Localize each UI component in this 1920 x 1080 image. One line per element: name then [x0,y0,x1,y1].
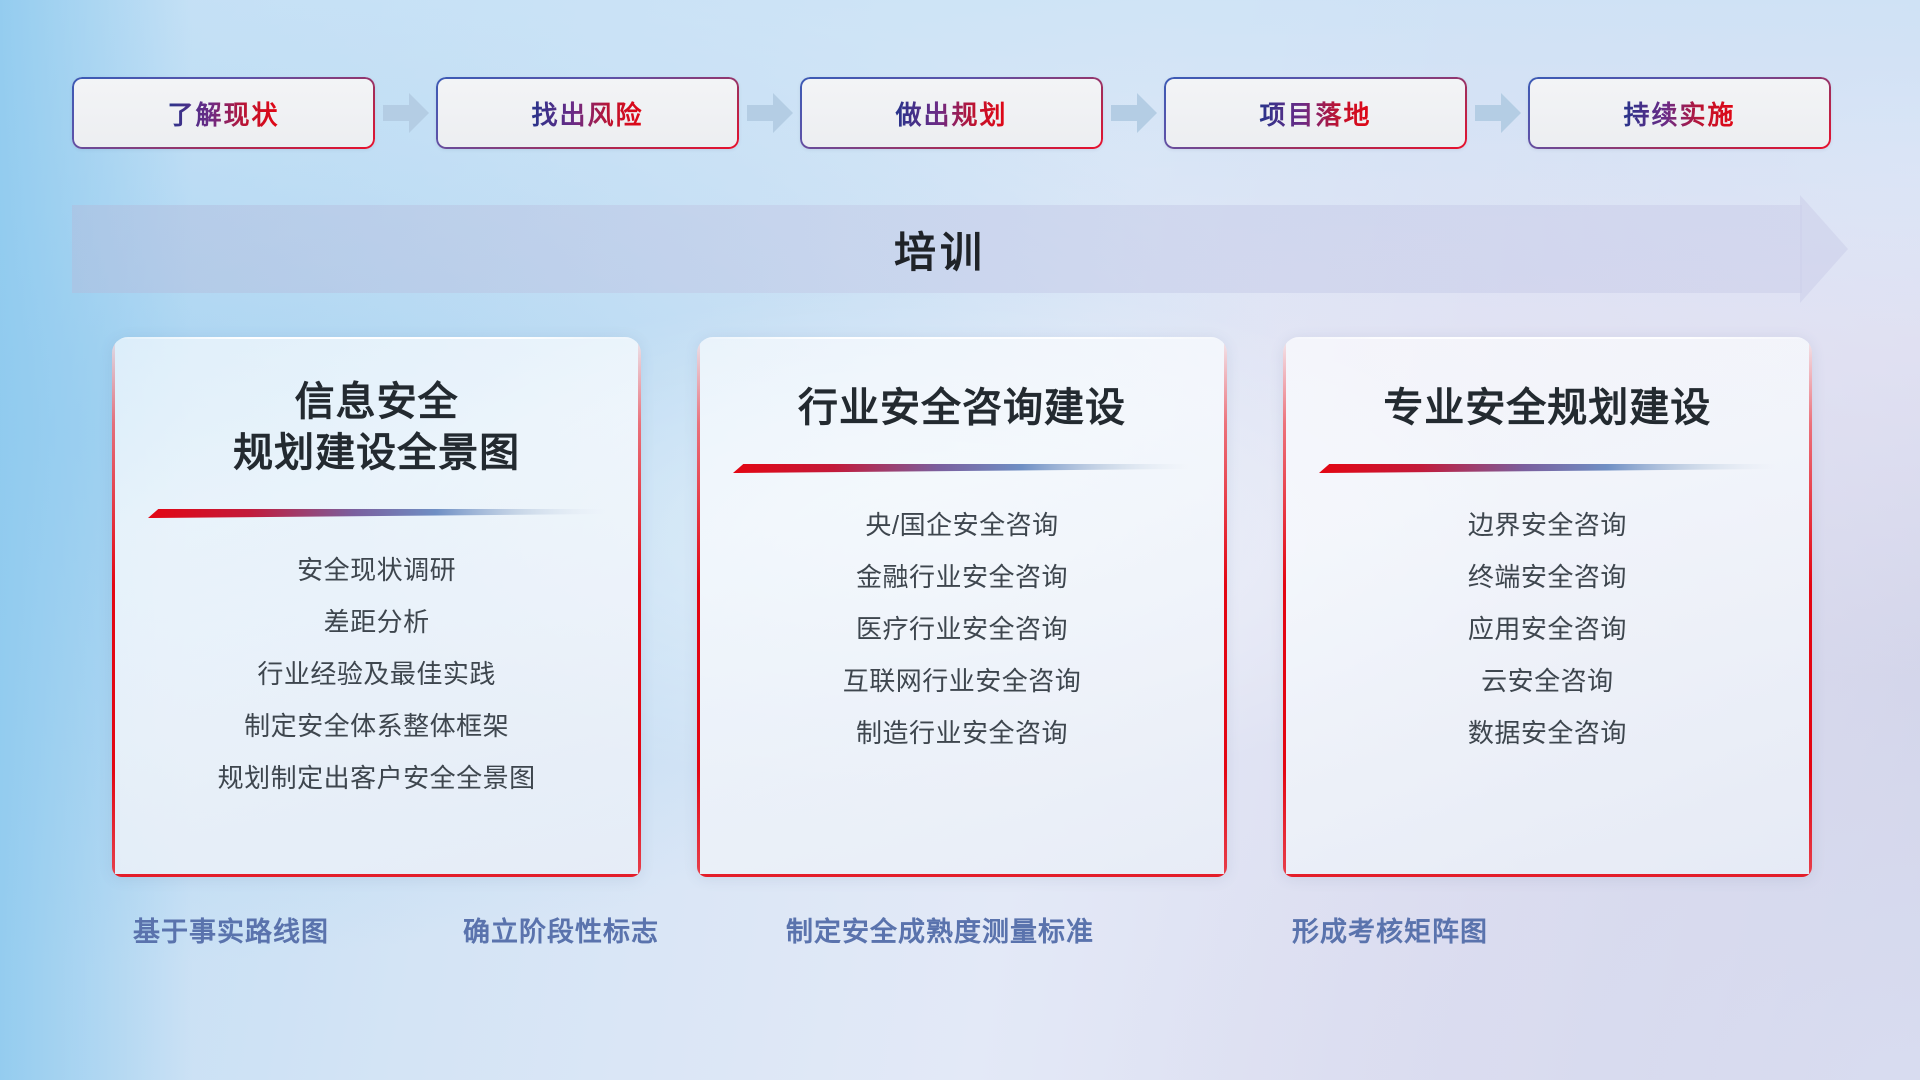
card-list-item[interactable]: 云安全咨询 [1283,655,1812,707]
card-list-item[interactable]: 终端安全咨询 [1283,551,1812,603]
card-accent-b [1283,874,1812,877]
card-list-item[interactable]: 规划制定出客户安全全景图 [112,752,641,804]
card-divider [148,507,605,520]
footer-label-2: 制定安全成熟度测量标准 [786,910,1094,949]
card-list-item[interactable]: 央/国企安全咨询 [697,499,1226,551]
process-step-1[interactable]: 找出风险 [436,77,739,149]
training-banner-title: 培训 [72,205,1848,293]
service-card-0[interactable]: 信息安全 规划建设全景图安全现状调研差距分析行业经验及最佳实践制定安全体系整体框… [112,337,641,877]
right-arrow-icon [739,77,800,149]
card-list-item[interactable]: 安全现状调研 [112,544,641,596]
process-step-label: 找出风险 [531,95,643,132]
card-accent-b [112,874,641,877]
card-list-item[interactable]: 金融行业安全咨询 [697,551,1226,603]
card-list-item[interactable]: 互联网行业安全咨询 [697,655,1226,707]
card-list-item[interactable]: 行业经验及最佳实践 [112,648,641,700]
card-title: 信息安全 规划建设全景图 [112,337,641,479]
process-step-4[interactable]: 持续实施 [1528,77,1831,149]
card-item-list: 安全现状调研差距分析行业经验及最佳实践制定安全体系整体框架规划制定出客户安全全景… [112,544,641,804]
footer-label-1: 确立阶段性标志 [463,910,659,949]
card-row: 信息安全 规划建设全景图安全现状调研差距分析行业经验及最佳实践制定安全体系整体框… [112,337,1812,877]
service-card-2[interactable]: 专业安全规划建设边界安全咨询终端安全咨询应用安全咨询云安全咨询数据安全咨询 [1283,337,1812,877]
process-step-label: 持续实施 [1623,95,1735,132]
right-arrow-icon [1467,77,1528,149]
card-divider [1319,462,1776,475]
card-list-item[interactable]: 应用安全咨询 [1283,603,1812,655]
footer-label-row: 基于事实路线图确立阶段性标志制定安全成熟度测量标准形成考核矩阵图 [0,910,1920,966]
card-list-item[interactable]: 差距分析 [112,596,641,648]
card-item-list: 央/国企安全咨询金融行业安全咨询医疗行业安全咨询互联网行业安全咨询制造行业安全咨… [697,499,1226,759]
card-list-item[interactable]: 医疗行业安全咨询 [697,603,1226,655]
right-arrow-icon [375,77,436,149]
process-step-label: 做出规划 [895,95,1007,132]
card-title: 专业安全规划建设 [1283,337,1812,434]
card-list-item[interactable]: 制造行业安全咨询 [697,707,1226,759]
process-step-label: 项目落地 [1259,95,1371,132]
process-step-3[interactable]: 项目落地 [1164,77,1467,149]
card-item-list: 边界安全咨询终端安全咨询应用安全咨询云安全咨询数据安全咨询 [1283,499,1812,759]
card-list-item[interactable]: 边界安全咨询 [1283,499,1812,551]
service-card-1[interactable]: 行业安全咨询建设央/国企安全咨询金融行业安全咨询医疗行业安全咨询互联网行业安全咨… [697,337,1226,877]
process-step-label: 了解现状 [167,95,279,132]
card-list-item[interactable]: 数据安全咨询 [1283,707,1812,759]
process-step-row: 了解现状找出风险做出规划项目落地持续实施 [72,77,1848,149]
right-arrow-icon [1103,77,1164,149]
footer-label-3: 形成考核矩阵图 [1292,910,1488,949]
card-accent-b [697,874,1226,877]
process-step-0[interactable]: 了解现状 [72,77,375,149]
card-divider [733,462,1190,475]
card-title: 行业安全咨询建设 [697,337,1226,434]
footer-label-0: 基于事实路线图 [133,910,329,949]
slide-stage: 了解现状找出风险做出规划项目落地持续实施 培训 信息安全 规划建设全景图安全现状… [0,0,1920,1080]
training-banner: 培训 [72,205,1848,293]
process-step-2[interactable]: 做出规划 [800,77,1103,149]
card-list-item[interactable]: 制定安全体系整体框架 [112,700,641,752]
